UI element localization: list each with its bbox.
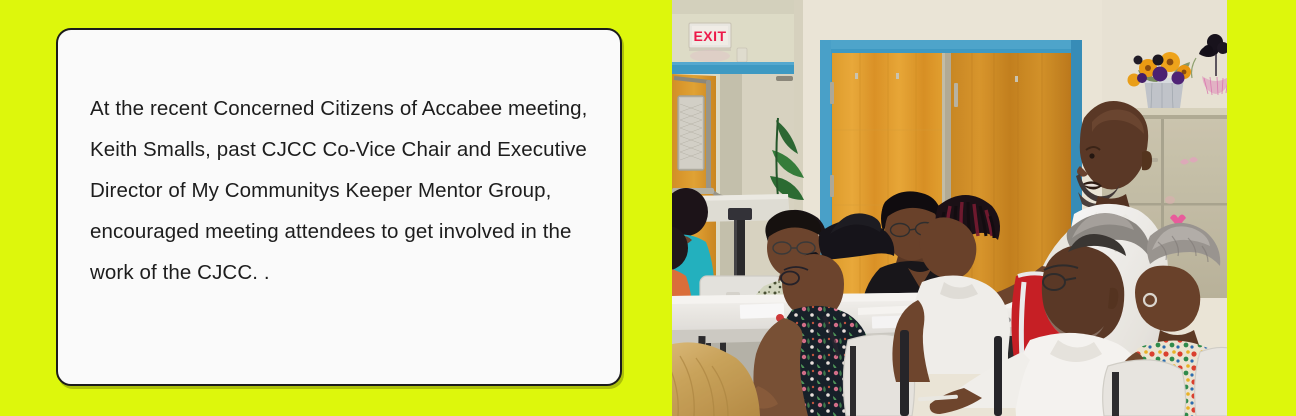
- quote-text: At the recent Concerned Citizens of Acca…: [90, 88, 590, 293]
- meeting-photo: EXIT: [672, 0, 1227, 416]
- quote-card: At the recent Concerned Citizens of Acca…: [56, 28, 622, 386]
- meeting-photo-illustration: EXIT: [672, 0, 1227, 416]
- page-canvas: At the recent Concerned Citizens of Acca…: [0, 0, 1296, 416]
